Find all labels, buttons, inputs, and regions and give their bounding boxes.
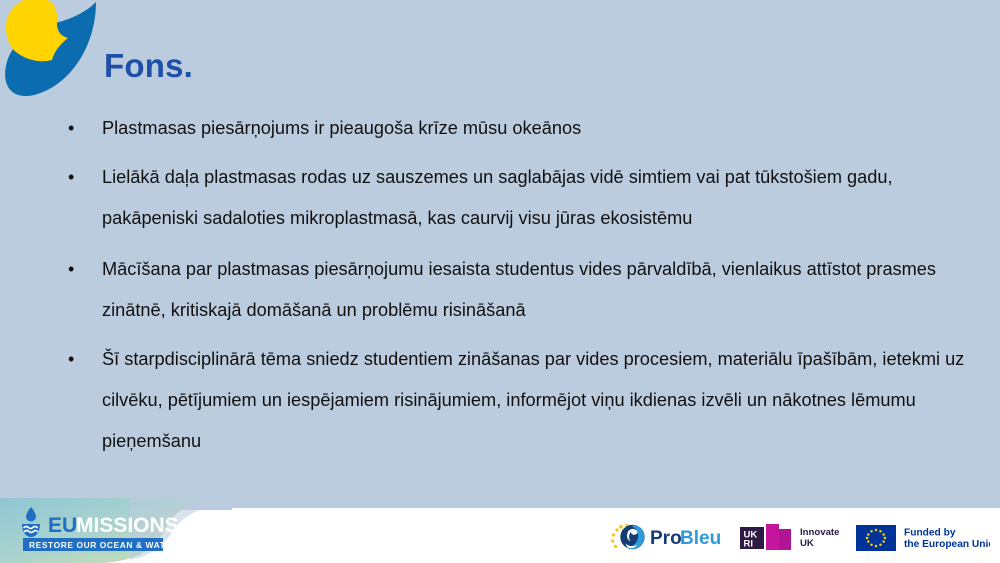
bullet-marker-icon: •	[68, 157, 74, 198]
slide: Fons. • Plastmasas piesārņojums ir pieau…	[0, 0, 1000, 563]
wave-leaf-logo-icon	[0, 0, 108, 106]
list-item-text: Mācīšana par plastmasas piesārņojumu ies…	[102, 249, 990, 331]
probleu-swirl-icon	[620, 525, 644, 549]
list-item-text: Plastmasas piesārņojums ir pieaugoša krī…	[102, 108, 990, 149]
eu-missions-title-suffix: MISSIONS	[76, 514, 179, 537]
bullet-marker-icon: •	[68, 108, 74, 149]
eu-flag-icon	[856, 525, 896, 551]
probleu-name-part1: Pro	[650, 528, 682, 549]
eu-missions-logo: EU MISSIONS RESTORE OUR OCEAN & WATERS	[0, 498, 232, 563]
eu-missions-title-prefix: EU	[48, 514, 77, 537]
list-item-text: Šī starpdisciplinārā tēma sniedz student…	[102, 339, 990, 462]
page-title: Fons.	[104, 48, 193, 84]
svg-text:RI: RI	[744, 539, 754, 550]
list-item: • Plastmasas piesārņojums ir pieaugoša k…	[60, 108, 990, 149]
list-item: • Šī starpdisciplinārā tēma sniedz stude…	[60, 339, 990, 462]
ukri-mark-icon: UK RI	[740, 524, 791, 550]
list-item: • Lielākā daļa plastmasas rodas uz sausz…	[60, 157, 990, 239]
innovate-uk-line1: Innovate	[800, 527, 839, 538]
innovate-uk-logo: UK RI Innovate UK	[738, 518, 850, 556]
funded-by-eu-line1: Funded by	[904, 528, 956, 539]
funded-by-eu-logo: Funded by the European Union	[855, 518, 990, 556]
eu-missions-subtitle: RESTORE OUR OCEAN & WATERS	[29, 540, 184, 550]
funded-by-eu-line2: the European Union	[904, 539, 990, 550]
probleu-name-part2: Bleu	[680, 528, 721, 549]
probleu-logo: Pro Bleu	[608, 518, 728, 556]
bullet-marker-icon: •	[68, 339, 74, 380]
innovate-uk-line2: UK	[800, 538, 814, 549]
list-item-text: Lielākā daļa plastmasas rodas uz sauszem…	[102, 157, 990, 239]
bullet-list: • Plastmasas piesārņojums ir pieaugoša k…	[60, 108, 990, 462]
bullet-marker-icon: •	[68, 249, 74, 290]
list-item: • Mācīšana par plastmasas piesārņojumu i…	[60, 249, 990, 331]
